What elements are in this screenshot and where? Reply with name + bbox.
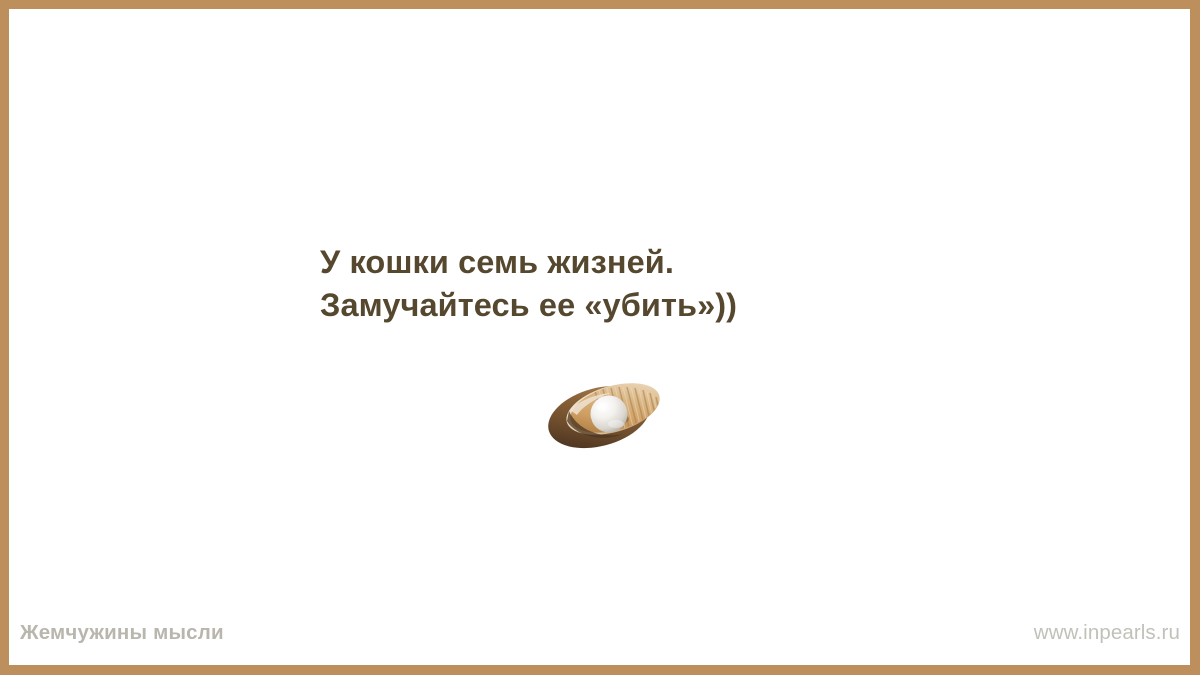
oyster-shell-with-pearl-icon [543, 377, 671, 453]
site-name: Жемчужины мысли [20, 621, 224, 645]
quote-card: У кошки семь жизней. Замучайтесь ее «уби… [0, 0, 1200, 675]
site-url[interactable]: www.inpearls.ru [1034, 621, 1180, 645]
quote-text: У кошки семь жизней. Замучайтесь ее «уби… [320, 241, 920, 327]
